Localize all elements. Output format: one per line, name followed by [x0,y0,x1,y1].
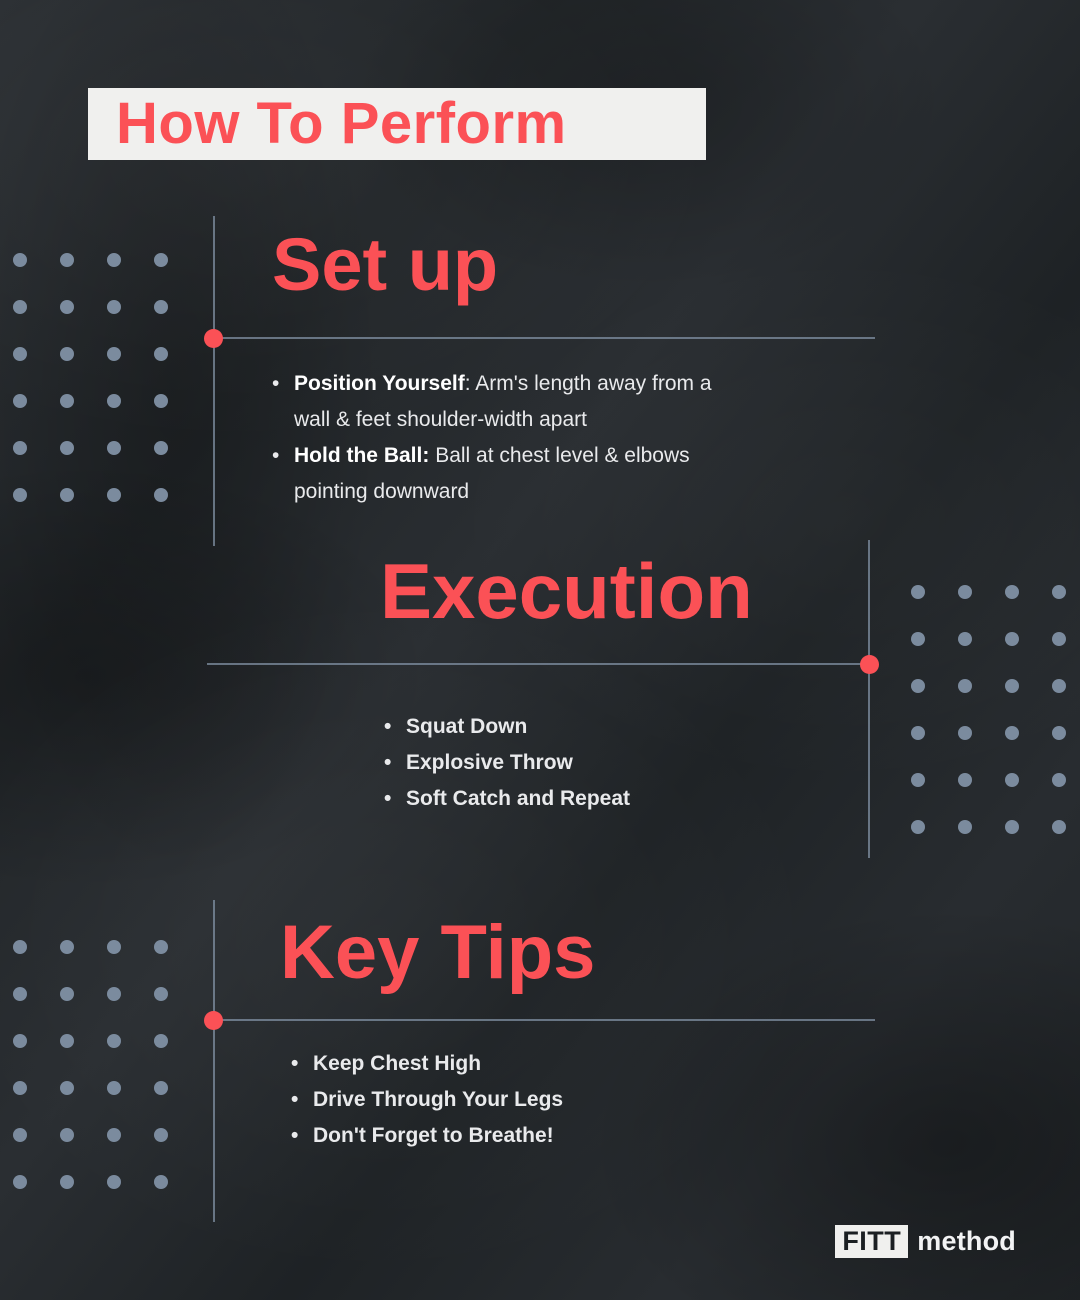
decor-dot [13,1034,27,1048]
decor-dot [1052,773,1066,787]
decor-dot [154,394,168,408]
decor-dot [13,300,27,314]
bullet-lead: Hold the Ball: [294,444,429,467]
section-heading-execution: Execution [380,552,753,630]
decor-dot [107,300,121,314]
list-item: Don't Forget to Breathe! [291,1118,563,1154]
section-setup: Set up [272,228,498,302]
list-item: Drive Through Your Legs [291,1082,563,1118]
decor-dot [107,394,121,408]
keytips-vertical-rule [213,900,215,1222]
bullet-lead: Explosive Throw [406,751,573,774]
decor-dot [958,726,972,740]
list-item: Hold the Ball: Ball at chest level & elb… [272,438,742,510]
decor-dot [154,1081,168,1095]
decor-dot [911,726,925,740]
bullet-lead: Keep Chest High [313,1052,481,1075]
decor-dot [13,1128,27,1142]
bullet-lead: Don't Forget to Breathe! [313,1124,554,1147]
execution-horizontal-rule [207,663,869,665]
page-title-band: How To Perform [88,88,706,160]
decor-dot [154,940,168,954]
execution-vertical-rule [868,540,870,858]
execution-node-dot [860,655,879,674]
brand-logo-mark: FITT [835,1225,908,1258]
decor-dot [60,1034,74,1048]
decor-dot [154,987,168,1001]
decor-dot [1052,632,1066,646]
decor-dot [911,773,925,787]
decor-dot [1005,632,1019,646]
decor-dot [13,394,27,408]
decor-dot [154,441,168,455]
decor-dot [107,441,121,455]
infographic-canvas: How To Perform Set up Position Yourself:… [0,0,1080,1300]
decor-dot [154,253,168,267]
section-heading-keytips: Key Tips [280,915,595,991]
keytips-horizontal-rule [214,1019,875,1021]
bullet-list-setup: Position Yourself: Arm's length away fro… [272,366,742,510]
decor-dot [60,1128,74,1142]
setup-node-dot [204,329,223,348]
decor-dot [60,300,74,314]
decor-dot [1052,585,1066,599]
bullet-lead: Position Yourself [294,372,465,395]
decor-dot [13,1081,27,1095]
decor-dot [911,820,925,834]
setup-vertical-rule [213,216,215,546]
dot-grid-top-left [13,253,168,502]
decor-dot [13,253,27,267]
dot-grid-right [911,585,1066,834]
dot-grid-bottom-left [13,940,168,1189]
decor-dot [154,300,168,314]
decor-dot [1052,679,1066,693]
decor-dot [1005,585,1019,599]
decor-dot [107,1175,121,1189]
list-item: Squat Down [384,709,630,745]
decor-dot [60,488,74,502]
decor-dot [1005,726,1019,740]
decor-dot [107,1081,121,1095]
decor-dot [1005,820,1019,834]
decor-dot [958,585,972,599]
decor-dot [13,1175,27,1189]
bullet-list-keytips: Keep Chest High Drive Through Your Legs … [291,1046,563,1154]
decor-dot [107,1128,121,1142]
page-title: How To Perform [88,95,567,153]
decor-dot [13,940,27,954]
section-heading-setup: Set up [272,228,498,302]
decor-dot [1052,726,1066,740]
decor-dot [13,488,27,502]
bullet-lead: Squat Down [406,715,527,738]
decor-dot [154,1034,168,1048]
decor-dot [154,347,168,361]
decor-dot [154,488,168,502]
decor-dot [958,632,972,646]
decor-dot [107,253,121,267]
decor-dot [13,347,27,361]
brand-logo: FITT method [835,1225,1016,1258]
decor-dot [1052,820,1066,834]
decor-dot [60,394,74,408]
decor-dot [1005,679,1019,693]
decor-dot [958,820,972,834]
decor-dot [60,253,74,267]
decor-dot [911,585,925,599]
decor-dot [13,441,27,455]
section-execution: Execution [380,552,753,630]
decor-dot [1005,773,1019,787]
bullet-list-execution: Squat Down Explosive Throw Soft Catch an… [384,709,630,817]
bullet-lead: Soft Catch and Repeat [406,787,630,810]
decor-dot [107,987,121,1001]
decor-dot [60,940,74,954]
decor-dot [107,347,121,361]
decor-dot [958,679,972,693]
decor-dot [60,441,74,455]
decor-dot [911,679,925,693]
decor-dot [911,632,925,646]
decor-dot [107,1034,121,1048]
decor-dot [60,1081,74,1095]
bullet-lead: Drive Through Your Legs [313,1088,563,1111]
brand-logo-word: method [917,1226,1016,1257]
list-item: Keep Chest High [291,1046,563,1082]
decor-dot [154,1175,168,1189]
decor-dot [60,987,74,1001]
list-item: Explosive Throw [384,745,630,781]
decor-dot [154,1128,168,1142]
decor-dot [13,987,27,1001]
decor-dot [60,347,74,361]
decor-dot [107,940,121,954]
list-item: Soft Catch and Repeat [384,781,630,817]
setup-horizontal-rule [214,337,875,339]
decor-dot [107,488,121,502]
keytips-node-dot [204,1011,223,1030]
bullet-sep: : [465,372,476,395]
decor-dot [60,1175,74,1189]
section-keytips: Key Tips [280,915,595,991]
list-item: Position Yourself: Arm's length away fro… [272,366,742,438]
decor-dot [958,773,972,787]
